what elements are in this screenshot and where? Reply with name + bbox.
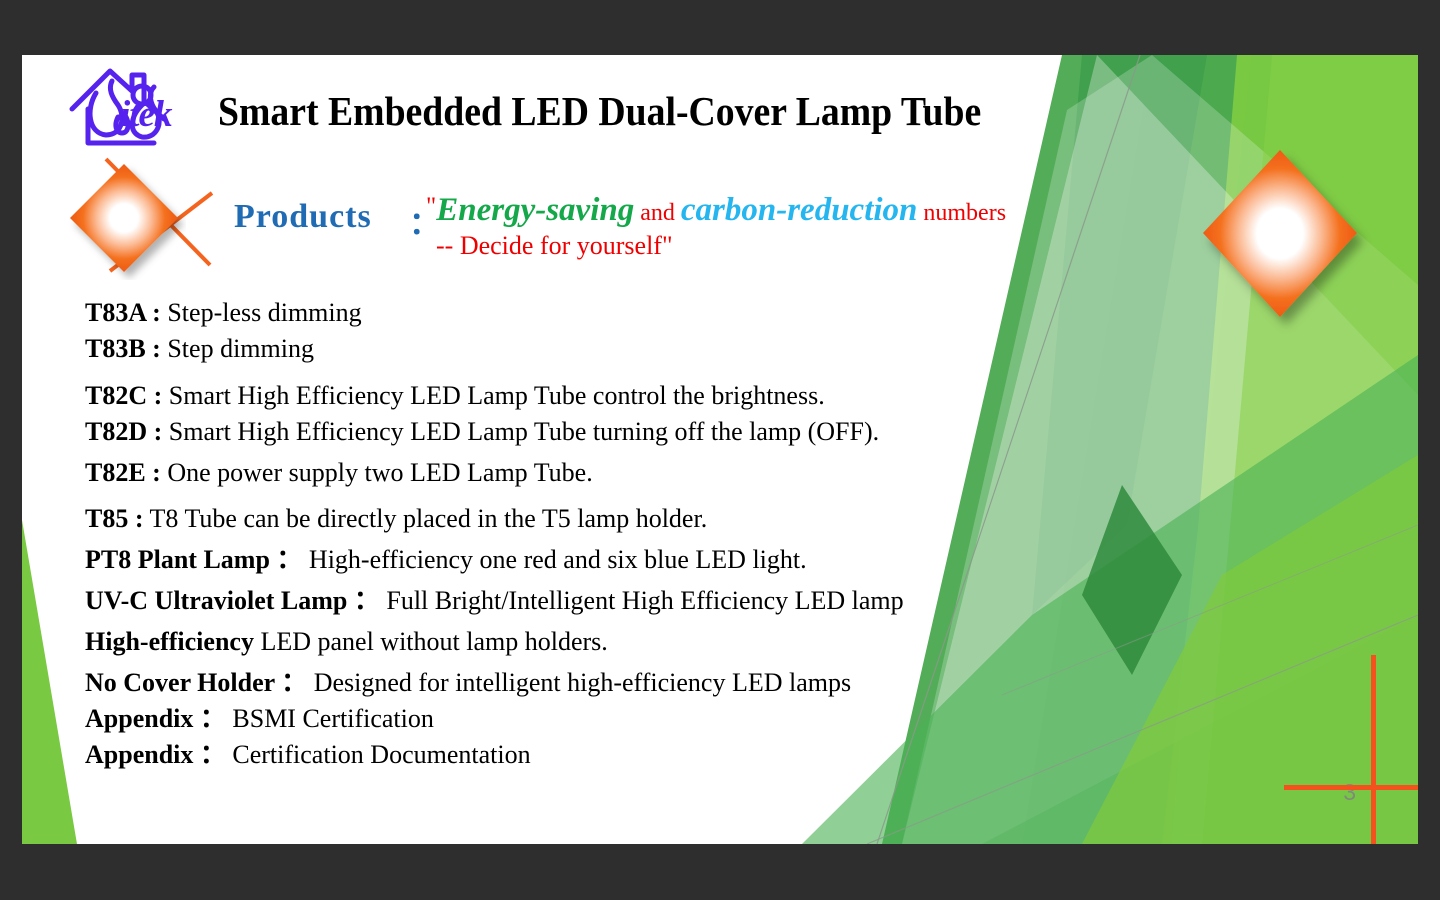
list-item: UV-C Ultraviolet Lamp ： Full Bright/Inte… [85, 583, 1145, 619]
slogan-numbers: numbers [917, 200, 1006, 226]
list-item: PT8 Plant Lamp ： High-efficiency one red… [85, 542, 1145, 578]
logo-wordmark: itek [120, 93, 171, 136]
list-item-value: BSMI Certification [226, 704, 434, 733]
list-item: High-efficiency LED panel without lamp h… [85, 624, 1145, 660]
list-item-value: Designed for intelligent high-efficiency… [307, 668, 851, 697]
list-item-value: One power supply two LED Lamp Tube. [161, 458, 593, 487]
list-item-value: LED panel without lamp holders. [254, 627, 608, 656]
orange-x-decoration [70, 153, 215, 283]
slogan-open-quote: " [426, 193, 436, 220]
list-item: T83A : Step-less dimming [85, 295, 1145, 331]
page-number: 3 [1343, 779, 1356, 806]
list-item-value: Step-less dimming [161, 298, 362, 327]
list-item: T85 : T8 Tube can be directly placed in … [85, 501, 1145, 537]
orange-diamond-large [1203, 150, 1357, 317]
list-item-value: T8 Tube can be directly placed in the T5… [144, 504, 708, 533]
slide-canvas: itek Smart Embedded LED Dual-Cover Lamp … [22, 55, 1418, 844]
list-item: Appendix ： BSMI Certification [85, 701, 1145, 737]
slogan: "Energy-saving and carbon-reduction numb… [426, 193, 1186, 260]
list-item-value: Smart High Efficiency LED Lamp Tube turn… [162, 417, 879, 446]
slogan-and: and [634, 200, 681, 226]
list-item-key: T83A : [85, 298, 161, 327]
list-item-value: Smart High Efficiency LED Lamp Tube cont… [162, 381, 824, 410]
slogan-carbon-reduction: carbon-reduction [681, 192, 918, 228]
list-item-key: PT8 Plant Lamp ： [85, 545, 302, 574]
product-list: T83A : Step-less dimming T83B : Step dim… [85, 295, 1145, 773]
slogan-energy-saving: Energy-saving [436, 192, 634, 228]
list-item-key: T85 : [85, 504, 144, 533]
list-item-value: Certification Documentation [226, 740, 531, 769]
list-item-key: T82C : [85, 381, 162, 410]
crosshair-vertical-line [1371, 655, 1376, 844]
list-item-key: T82E : [85, 458, 161, 487]
list-item-key: T82D : [85, 417, 162, 446]
list-item-value: High-efficiency one red and six blue LED… [302, 545, 806, 574]
list-item-key: High-efficiency [85, 627, 254, 656]
list-item: Appendix ： Certification Documentation [85, 737, 1145, 773]
list-item-value: Full Bright/Intelligent High Efficiency … [380, 586, 904, 615]
slogan-line-two: -- Decide for yourself" [436, 232, 1186, 260]
list-item-key: No Cover Holder ： [85, 668, 307, 697]
list-item: T83B : Step dimming [85, 331, 1145, 367]
crosshair-horizontal-line [1284, 785, 1418, 790]
list-item: No Cover Holder ： Designed for intellige… [85, 665, 1145, 701]
list-item-key: UV-C Ultraviolet Lamp ： [85, 586, 380, 615]
list-item-value: Step dimming [161, 334, 314, 363]
list-item-key: Appendix ： [85, 704, 226, 733]
list-item-key: Appendix ： [85, 740, 226, 769]
list-item: T82C : Smart High Efficiency LED Lamp Tu… [85, 378, 1145, 414]
list-item: T82E : One power supply two LED Lamp Tub… [85, 455, 1145, 491]
list-item-key: T83B : [85, 334, 161, 363]
screen: itek Smart Embedded LED Dual-Cover Lamp … [0, 0, 1440, 900]
page-title: Smart Embedded LED Dual-Cover Lamp Tube [218, 87, 981, 135]
list-item: T82D : Smart High Efficiency LED Lamp Tu… [85, 414, 1145, 450]
products-label: Products [234, 198, 372, 236]
